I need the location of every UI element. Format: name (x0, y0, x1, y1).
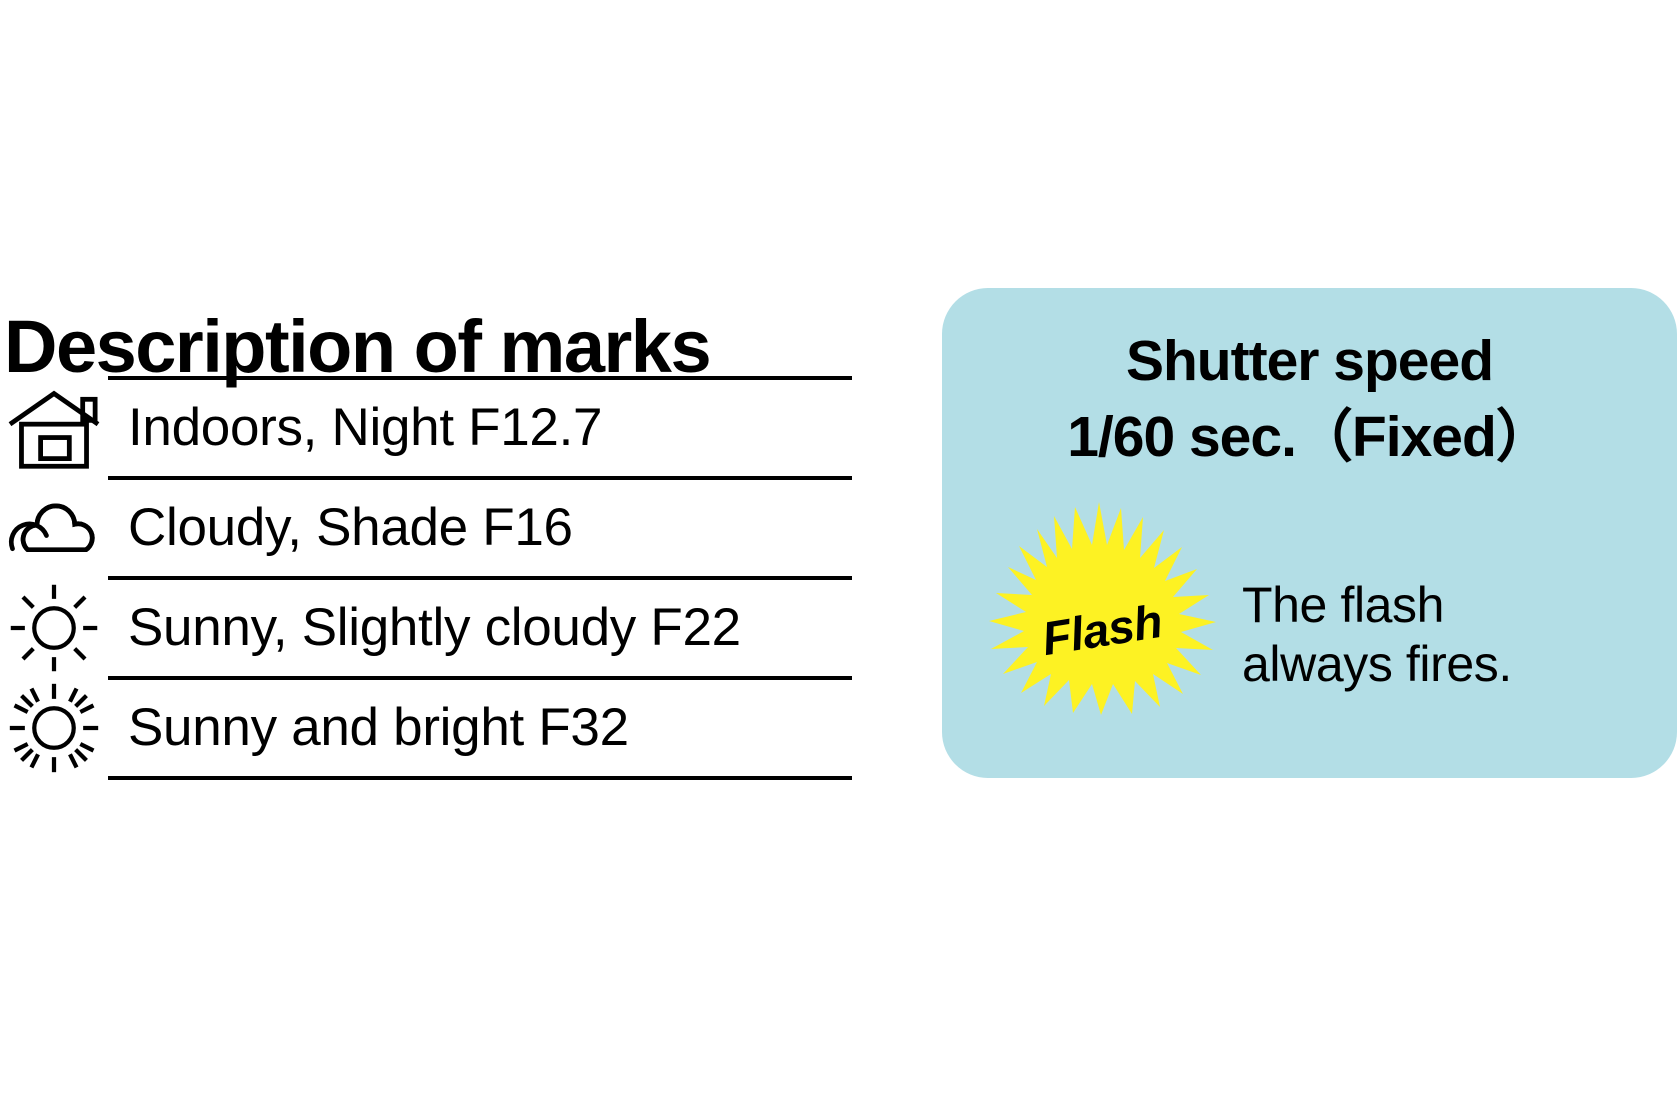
table-row: Cloudy, Shade F16 (0, 480, 860, 576)
shutter-speed-heading: Shutter speed 1/60 sec.（Fixed） (942, 324, 1677, 476)
bright-sun-icon (2, 680, 106, 776)
cloud-icon (2, 480, 106, 576)
table-rule (108, 776, 852, 780)
table-row: Sunny and bright F32 (0, 680, 860, 776)
shutter-speed-heading-line2: 1/60 sec.（Fixed） (942, 400, 1677, 476)
description-of-marks-panel: Description of marks Indoors, Night F12.… (0, 260, 870, 800)
shutter-speed-heading-line1: Shutter speed (942, 324, 1677, 400)
sun-icon (2, 580, 106, 676)
table-row: Indoors, Night F12.7 (0, 380, 860, 476)
table-row: Sunny, Slightly cloudy F22 (0, 580, 860, 676)
page-title: Description of marks (4, 310, 710, 384)
mark-label: Sunny and bright F32 (128, 680, 629, 776)
mark-label: Indoors, Night F12.7 (128, 380, 602, 476)
flash-note-line1: The flash (1242, 576, 1512, 635)
flash-note-line2: always fires. (1242, 635, 1512, 694)
flash-starburst-icon: Flash (954, 498, 1244, 763)
shutter-speed-card: Shutter speed 1/60 sec.（Fixed） Flash The… (942, 288, 1677, 778)
mark-label: Sunny, Slightly cloudy F22 (128, 580, 741, 676)
mark-label: Cloudy, Shade F16 (128, 480, 573, 576)
flash-note: The flash always fires. (1242, 576, 1512, 694)
house-icon (2, 380, 106, 476)
